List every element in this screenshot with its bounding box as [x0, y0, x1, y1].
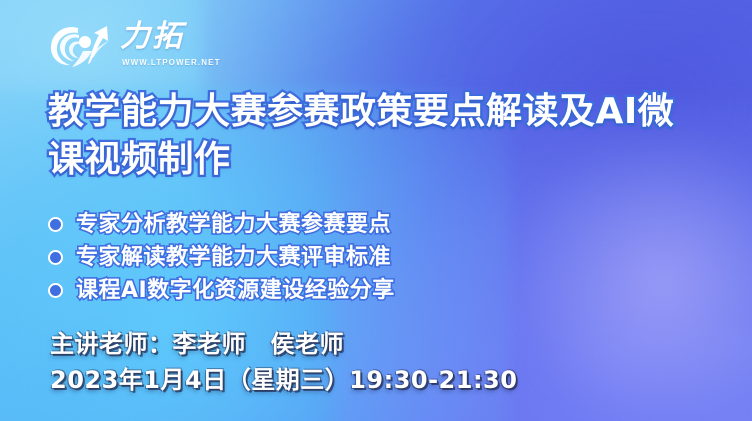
- schedule-line: 2023年1月4日（星期三）19:30-21:30: [50, 362, 690, 398]
- page-title-line-2: 课视频制作: [48, 136, 728, 184]
- bullet-dot-icon: [48, 283, 63, 298]
- highlight-list: 专家分析教学能力大赛参赛要点 专家解读教学能力大赛评审标准 课程AI数字化资源建…: [48, 208, 668, 307]
- list-item-label: 专家解读教学能力大赛评审标准: [76, 247, 391, 269]
- list-item-label: 课程AI数字化资源建设经验分享: [76, 280, 395, 302]
- list-item-label: 专家分析教学能力大赛参赛要点: [76, 214, 391, 236]
- list-item: 专家分析教学能力大赛参赛要点: [48, 208, 668, 241]
- page-title: 教学能力大赛参赛政策要点解读及AI微 课视频制作: [48, 88, 728, 184]
- logo-url: WWW.LTPOWER.NET: [122, 58, 221, 67]
- promo-banner: 力拓 WWW.LTPOWER.NET 教学能力大赛参赛政策要点解读及AI微 课视…: [0, 0, 752, 421]
- page-title-line-1: 教学能力大赛参赛政策要点解读及AI微: [48, 88, 728, 136]
- brand-logo: 力拓 WWW.LTPOWER.NET: [48, 18, 218, 74]
- swirl-arrow-logo-icon: [48, 18, 120, 70]
- speakers-line: 主讲老师：李老师 侯老师: [50, 326, 690, 362]
- bullet-dot-icon: [48, 250, 63, 265]
- list-item: 专家解读教学能力大赛评审标准: [48, 241, 668, 274]
- event-details: 主讲老师：李老师 侯老师 2023年1月4日（星期三）19:30-21:30: [50, 326, 690, 398]
- logo-wordmark: 力拓: [120, 22, 184, 52]
- bullet-dot-icon: [48, 217, 63, 232]
- list-item: 课程AI数字化资源建设经验分享: [48, 274, 668, 307]
